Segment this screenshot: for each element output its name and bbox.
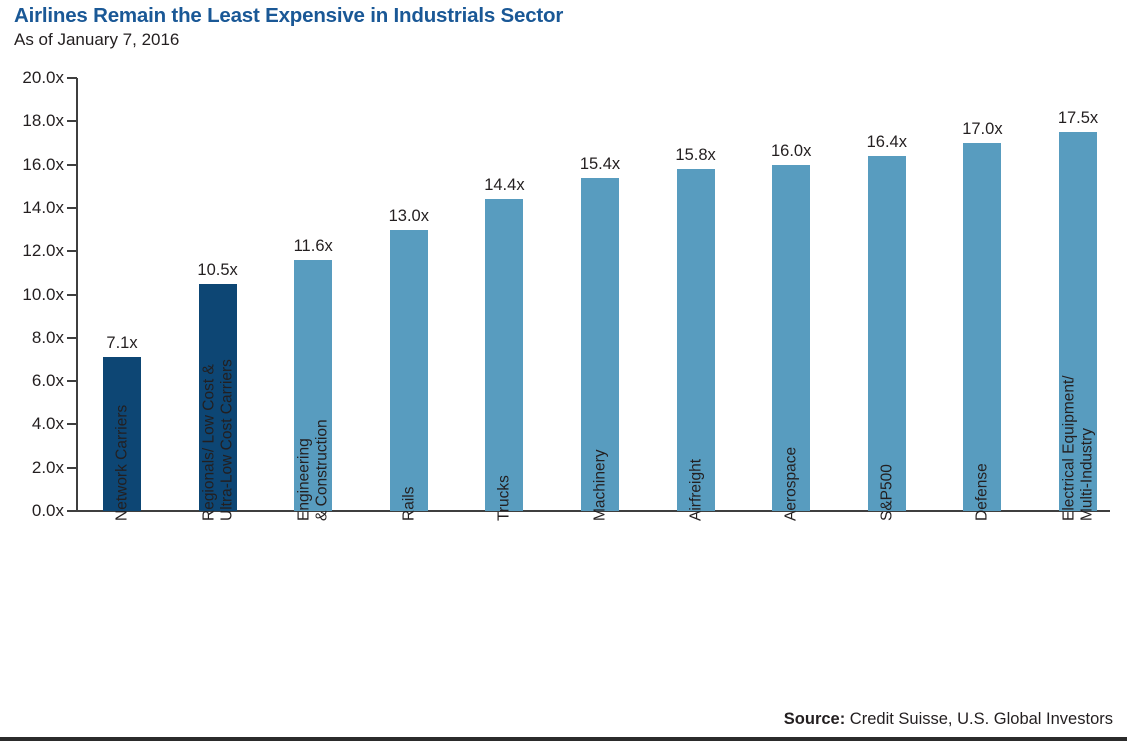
x-axis-category-label: Defense [982, 463, 1000, 521]
y-axis-tick-label: 16.0x [2, 156, 64, 173]
source-note: Source: Credit Suisse, U.S. Global Inves… [784, 710, 1113, 729]
x-axis-category-label: Airfreight [696, 459, 714, 521]
x-axis-category-line: Electrical Equipment/ [1061, 375, 1079, 521]
x-axis-category-label: Regionals/ Low Cost &Ultra-Low Cost Carr… [218, 359, 253, 521]
x-axis-category-line: Network Carriers [113, 405, 131, 521]
y-axis-tick [67, 120, 77, 122]
bar[interactable] [390, 230, 428, 511]
bar-value-label: 16.0x [738, 142, 844, 160]
y-axis-tick-label: 0.0x [2, 502, 64, 519]
bar-value-label: 17.5x [1025, 109, 1127, 127]
source-label: Source: [784, 710, 845, 728]
bar-chart: 0.0x2.0x4.0x6.0x8.0x10.0x12.0x14.0x16.0x… [0, 0, 1127, 746]
y-axis-tick-label: 20.0x [2, 69, 64, 86]
y-axis-tick [67, 250, 77, 252]
y-axis-tick-label: 2.0x [2, 459, 64, 476]
bar-value-label: 15.4x [547, 155, 653, 173]
x-axis-category-line: Airfreight [687, 459, 705, 521]
x-axis-category-line: Regionals/ Low Cost & [200, 359, 218, 521]
bar-value-label: 15.8x [643, 146, 749, 164]
bar-value-label: 10.5x [165, 261, 271, 279]
x-axis-category-line: Trucks [496, 475, 514, 521]
source-text: Credit Suisse, U.S. Global Investors [845, 710, 1113, 728]
bar-value-label: 13.0x [356, 207, 462, 225]
x-axis-category-line: Ultra-Low Cost Carriers [218, 359, 236, 521]
bar-value-label: 16.4x [834, 133, 940, 151]
y-axis-tick-label: 12.0x [2, 242, 64, 259]
x-axis-category-line: Multi-Industry [1078, 375, 1096, 521]
y-axis-tick-label: 4.0x [2, 415, 64, 432]
y-axis-tick [67, 294, 77, 296]
x-axis-category-label: Rails [409, 487, 427, 521]
bar-value-label: 17.0x [929, 120, 1035, 138]
x-axis-category-label: S&P500 [887, 464, 905, 521]
y-axis-tick-label: 6.0x [2, 372, 64, 389]
x-axis-category-line: S&P500 [878, 464, 896, 521]
y-axis-tick-label: 8.0x [2, 329, 64, 346]
x-axis-category-label: Engineering& Construction [313, 419, 348, 521]
x-axis-category-line: Engineering [296, 419, 314, 521]
y-axis-tick [67, 467, 77, 469]
y-axis-tick [67, 77, 77, 79]
x-axis-category-line: Aerospace [782, 447, 800, 521]
y-axis-tick [67, 164, 77, 166]
bar[interactable] [868, 156, 906, 511]
x-axis-category-label: Trucks [504, 475, 522, 521]
x-axis-category-label: Aerospace [791, 447, 809, 521]
y-axis-tick [67, 380, 77, 382]
y-axis-tick [67, 207, 77, 209]
y-axis-tick [67, 423, 77, 425]
x-axis-category-label: Network Carriers [122, 405, 140, 521]
y-axis-tick-label: 10.0x [2, 286, 64, 303]
x-axis-category-line: Defense [974, 463, 992, 521]
bottom-rule [0, 737, 1127, 741]
y-axis-tick [67, 510, 77, 512]
bar[interactable] [485, 199, 523, 511]
x-axis-category-line: Rails [400, 487, 418, 521]
y-axis-tick-label: 14.0x [2, 199, 64, 216]
x-axis-category-line: & Construction [313, 419, 331, 521]
bar-value-label: 7.1x [69, 334, 175, 352]
x-axis-category-line: Machinery [591, 450, 609, 522]
y-axis-tick-label: 18.0x [2, 112, 64, 129]
bar-value-label: 14.4x [451, 176, 557, 194]
x-axis-category-label: Machinery [600, 450, 618, 522]
x-axis-category-label: Electrical Equipment/Multi-Industry [1078, 375, 1113, 521]
bar-value-label: 11.6x [260, 237, 366, 255]
bar[interactable] [963, 143, 1001, 511]
